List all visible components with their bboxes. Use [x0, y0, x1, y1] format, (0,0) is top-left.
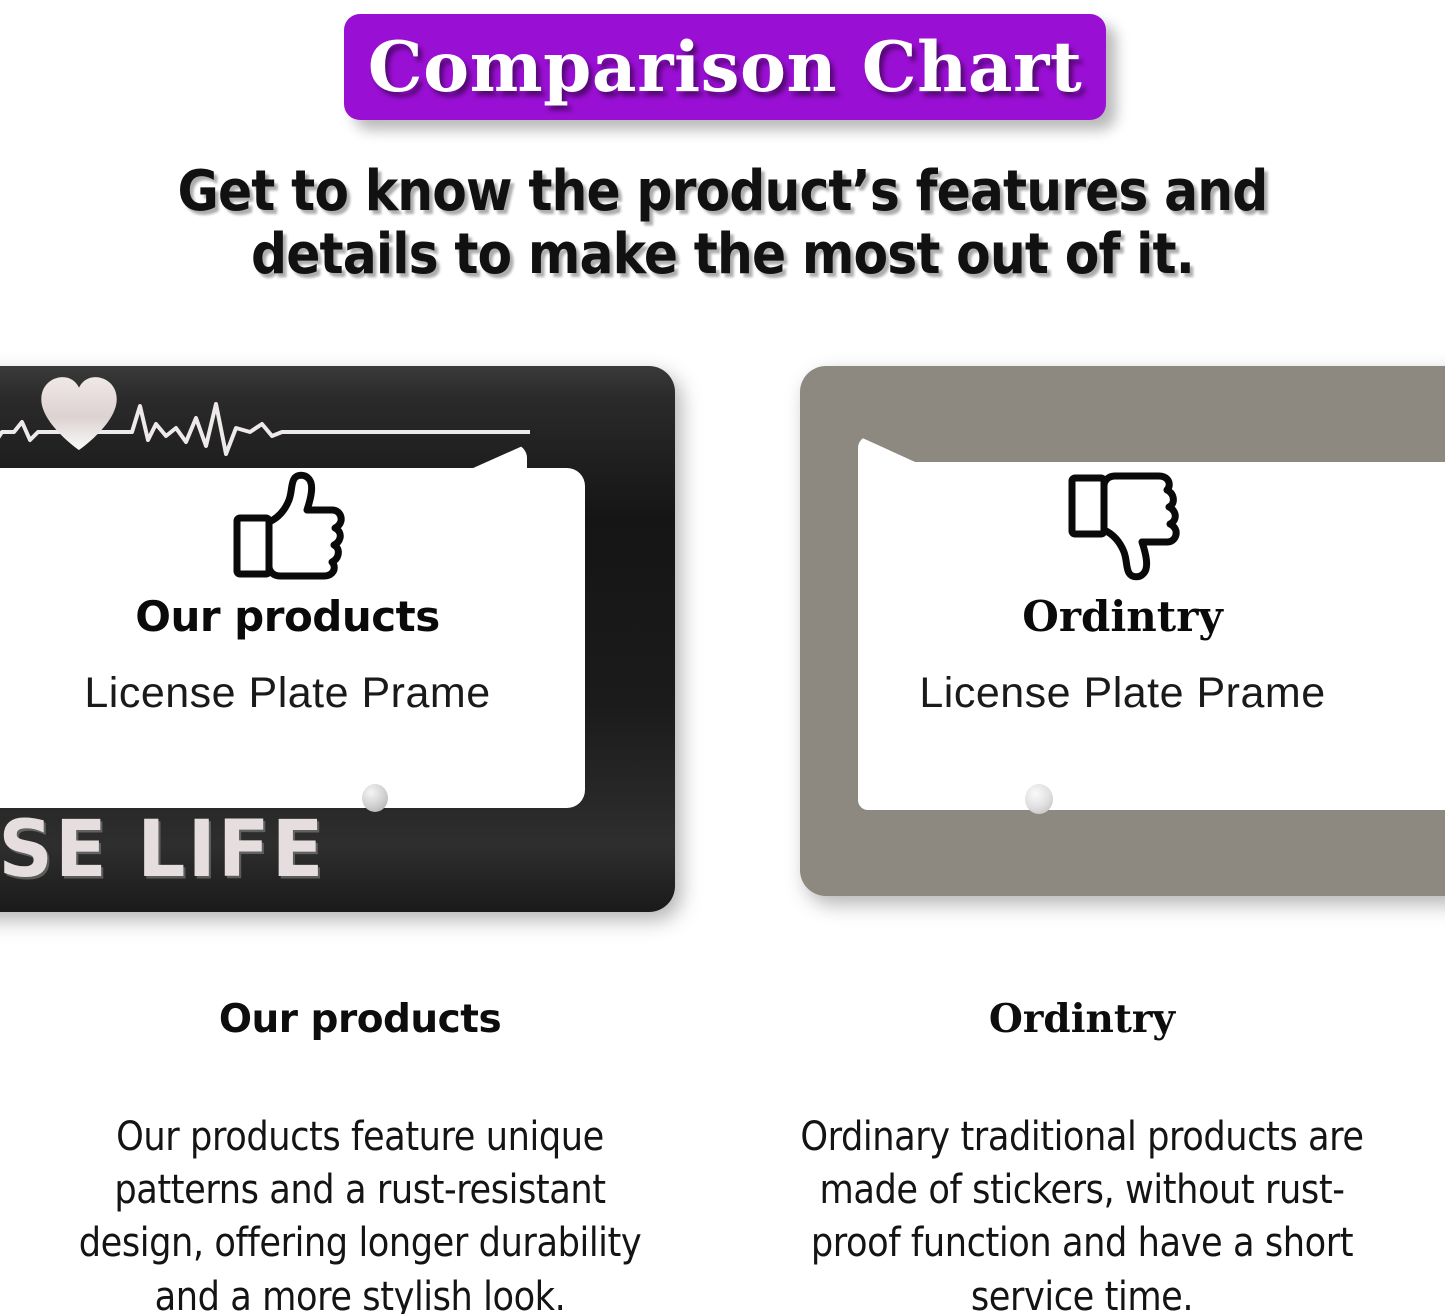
page-title: Comparison Chart	[368, 33, 1083, 102]
screw-hole-icon	[362, 784, 388, 812]
description-title: Our products	[30, 1000, 690, 1039]
card-subtitle: License Plate Prame	[845, 672, 1400, 715]
title-banner: Comparison Chart	[344, 14, 1106, 120]
card-title: Our products	[0, 596, 575, 638]
card-title: Ordintry	[845, 596, 1400, 638]
card-subtitle: License Plate Prame	[0, 672, 575, 715]
subtitle-line-1: Get to know the product’s features and	[72, 160, 1373, 223]
subtitle-line-2: details to make the most out of it.	[72, 223, 1373, 286]
our-product-card-content: Our products License Plate Prame	[0, 470, 575, 715]
ordinary-product-description-column: Ordintry Ordinary traditional products a…	[752, 1000, 1412, 1314]
screw-hole-icon	[1025, 784, 1053, 814]
description-body: Our products feature unique patterns and…	[70, 1111, 651, 1314]
description-body: Ordinary traditional products are made o…	[792, 1111, 1373, 1314]
plate-bottom-text: RSE LIFE	[0, 810, 326, 888]
heart-icon	[38, 376, 120, 452]
description-title: Ordintry	[752, 1000, 1412, 1039]
our-product-description-column: Our products Our products feature unique…	[30, 1000, 690, 1314]
thumbs-up-icon	[228, 470, 348, 582]
subtitle: Get to know the product’s features and d…	[72, 160, 1373, 287]
thumbs-down-icon	[1063, 470, 1183, 582]
comparison-chart-page: Comparison Chart Get to know the product…	[0, 0, 1445, 1314]
ordinary-product-card-content: Ordintry License Plate Prame	[845, 470, 1400, 715]
